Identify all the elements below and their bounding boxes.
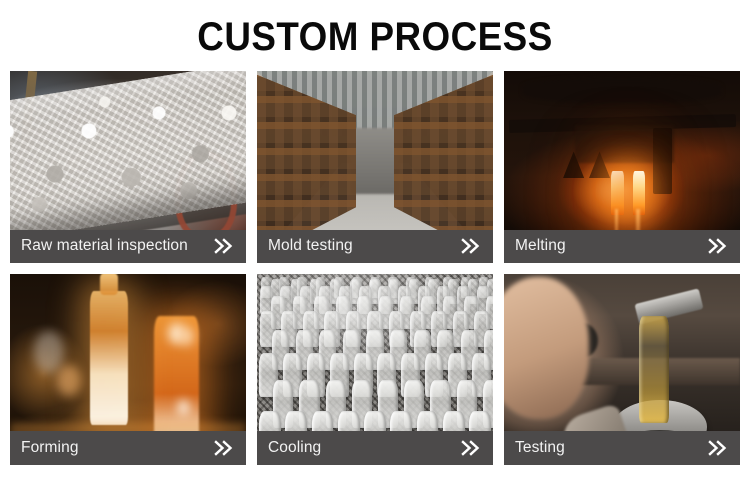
process-card-label: Forming — [21, 440, 79, 456]
photo-detail-bokeh-highlight — [34, 331, 65, 373]
photo-detail-technician-head — [504, 277, 589, 419]
process-card-caption[interactable]: Mold testing — [257, 230, 493, 263]
process-card-grid: Raw material inspection Mold testing — [10, 71, 740, 465]
process-card-caption[interactable]: Forming — [10, 431, 246, 465]
process-card-caption[interactable]: Raw material inspection — [10, 230, 246, 263]
process-card-label: Cooling — [268, 440, 321, 456]
double-chevron-right-icon[interactable] — [460, 237, 482, 255]
photo-detail-machinery-column — [653, 128, 672, 193]
photo-detail-amber-bottle — [639, 316, 670, 423]
double-chevron-right-icon[interactable] — [213, 439, 235, 457]
process-card-mold-testing[interactable]: Mold testing — [257, 71, 493, 263]
double-chevron-right-icon[interactable] — [707, 439, 729, 457]
double-chevron-right-icon[interactable] — [460, 439, 482, 457]
process-card-label: Testing — [515, 440, 565, 456]
photo-detail-bokeh-highlight — [57, 365, 81, 396]
process-card-cooling[interactable]: Cooling — [257, 274, 493, 466]
process-card-melting[interactable]: Melting — [504, 71, 740, 263]
process-card-caption[interactable]: Testing — [504, 431, 740, 465]
page-title: CUSTOM PROCESS — [30, 0, 720, 71]
process-card-caption[interactable]: Cooling — [257, 431, 493, 465]
double-chevron-right-icon[interactable] — [707, 237, 729, 255]
photo-detail-post — [20, 71, 38, 152]
photo-detail-overhead-duct — [523, 77, 721, 104]
photo-detail-wheel — [175, 151, 236, 239]
photo-detail-hot-bottle-left — [90, 291, 128, 425]
process-card-label: Mold testing — [268, 238, 353, 254]
process-card-label: Melting — [515, 238, 566, 254]
custom-process-page: CUSTOM PROCESS Raw material inspection — [0, 0, 750, 483]
process-card-label: Raw material inspection — [21, 238, 188, 254]
process-card-forming[interactable]: Forming — [10, 274, 246, 466]
process-card-testing[interactable]: Testing — [504, 274, 740, 466]
process-card-raw-material-inspection[interactable]: Raw material inspection — [10, 71, 246, 263]
photo-detail-aisle-vanishing-point — [351, 128, 398, 193]
process-card-caption[interactable]: Melting — [504, 230, 740, 263]
double-chevron-right-icon[interactable] — [213, 237, 235, 255]
